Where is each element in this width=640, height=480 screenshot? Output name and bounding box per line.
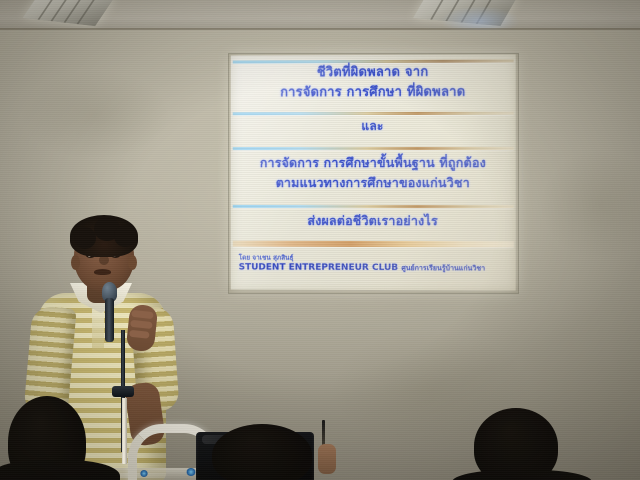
microphone-stand-clamp	[112, 386, 134, 397]
microphone-stand-lower	[122, 398, 127, 464]
slide-line-5: ตามแนวทางการศึกษาของแก่นวิชา	[237, 175, 510, 191]
slide-line-2: การจัดการ การศึกษา ที่ผิดพลาด	[237, 85, 510, 102]
slide-credit-block: โดย จาเชน สุภสินธุ์ STUDENT ENTREPRENEUR…	[239, 253, 510, 275]
slide-line-6: ส่งผลต่อชีวิตเราอย่างไร	[237, 213, 510, 229]
presenter-hair	[70, 215, 138, 257]
photo-scene: ชีวิตที่ผิดพลาด จาก การจัดการ การศึกษา ท…	[0, 0, 640, 480]
slide-block-problem: ชีวิตที่ผิดพลาด จาก การจัดการ การศึกษา ท…	[237, 64, 510, 101]
desk-led	[140, 470, 148, 477]
slide-rule-2	[233, 147, 514, 150]
slide-credit-organization: STUDENT ENTREPRENEUR CLUB ศูนย์การเรียนร…	[239, 263, 510, 275]
projection-screen: ชีวิตที่ผิดพลาด จาก การจัดการ การศึกษา ท…	[231, 54, 516, 290]
slide-rule-4	[233, 241, 514, 248]
audience-shoulder-left	[0, 460, 120, 480]
slide-line-3: และ	[237, 119, 510, 134]
microphone-body	[105, 298, 114, 342]
slide-block-question: ส่งผลต่อชีวิตเราอย่างไร	[237, 213, 510, 229]
presenter-shirt-placket	[92, 307, 104, 351]
slide-line-1: ชีวิตที่ผิดพลาด จาก	[237, 64, 510, 81]
slide-rule-top	[233, 59, 514, 63]
slide-block-solution: การจัดการ การศึกษาขั้นพื้นฐาน ที่ถูกต้อง…	[237, 155, 510, 190]
slide-rule-1	[233, 112, 514, 116]
slide-credit-org-th: ศูนย์การเรียนรู้บ้านแก่นวิชา	[401, 264, 485, 272]
hand-holding-pen	[318, 444, 336, 474]
presenter-mouth	[94, 269, 111, 275]
slide-rule-3	[233, 205, 514, 208]
slide-credit-org-en: STUDENT ENTREPRENEUR CLUB	[239, 263, 399, 274]
audience-head-center	[212, 424, 312, 480]
laptop-led-left	[186, 468, 196, 476]
slide-content: ชีวิตที่ผิดพลาด จาก การจัดการ การศึกษา ท…	[231, 54, 516, 290]
slide-line-4: การจัดการ การศึกษาขั้นพื้นฐาน ที่ถูกต้อง	[237, 155, 510, 171]
slide-block-conjunction: และ	[237, 119, 510, 134]
